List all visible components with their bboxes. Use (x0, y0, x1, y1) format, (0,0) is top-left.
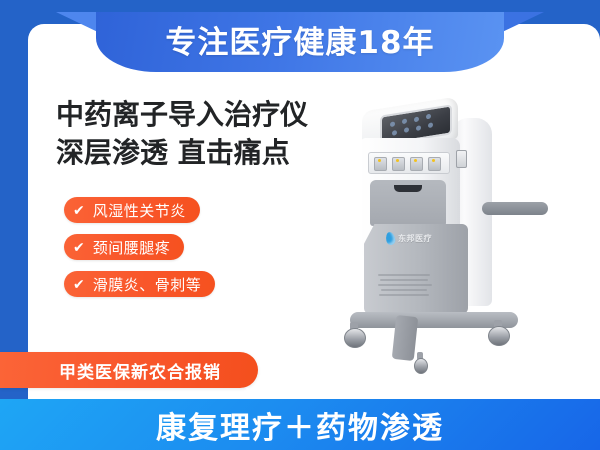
device-port (428, 157, 441, 171)
device-brand-label: 东邦医疗 (398, 233, 432, 244)
device-handle (482, 202, 548, 215)
device-caster (344, 322, 364, 346)
feature-pill: ✔ 颈间腰腿疼 (64, 234, 184, 260)
check-icon: ✔ (73, 240, 85, 254)
device-port (392, 157, 405, 171)
headline-line-2: 深层渗透 直击痛点 (56, 134, 356, 172)
ribbon-banner: 专注医疗健康18年 (96, 12, 504, 72)
feature-pill-list: ✔ 风湿性关节炎 ✔ 颈间腰腿疼 ✔ 滑膜炎、骨刺等 (64, 197, 215, 308)
device-port (410, 157, 423, 171)
headline-line-1: 中药离子导入治疗仪 (56, 96, 356, 134)
device-drawer (370, 180, 446, 226)
feature-pill: ✔ 滑膜炎、骨刺等 (64, 271, 215, 297)
check-icon: ✔ (73, 203, 85, 217)
water-drop-icon (385, 231, 397, 246)
ribbon-title: 专注医疗健康18年 (96, 12, 504, 66)
ribbon-banner-group: 专注医疗健康18年 (0, 0, 600, 90)
device-caster (414, 352, 426, 372)
insurance-banner: 甲类医保新农合报销 (0, 352, 258, 388)
device-brand-logo: 东邦医疗 (386, 232, 432, 245)
device-port (374, 157, 387, 171)
device-power-switch (456, 150, 467, 168)
device-vent-grille (378, 274, 434, 300)
feature-pill-label: 风湿性关节炎 (93, 200, 186, 221)
insurance-banner-label: 甲类医保新农合报销 (37, 358, 221, 383)
bottom-slogan-bar: 康复理疗＋药物渗透 (0, 399, 600, 450)
device-caster (488, 320, 508, 344)
headline-block: 中药离子导入治疗仪 深层渗透 直击痛点 (56, 96, 356, 172)
bottom-slogan-label: 康复理疗＋药物渗透 (156, 403, 444, 447)
feature-pill-label: 颈间腰腿疼 (93, 237, 171, 258)
device-port-panel (368, 152, 450, 174)
poster-canvas: 专注医疗健康18年 中药离子导入治疗仪 深层渗透 直击痛点 ✔ 风湿性关节炎 ✔… (0, 0, 600, 450)
device-illustration: 东邦医疗 (336, 104, 546, 394)
ribbon-ear-right-icon (498, 12, 544, 34)
feature-pill-label: 滑膜炎、骨刺等 (93, 274, 202, 295)
check-icon: ✔ (73, 277, 85, 291)
feature-pill: ✔ 风湿性关节炎 (64, 197, 200, 223)
